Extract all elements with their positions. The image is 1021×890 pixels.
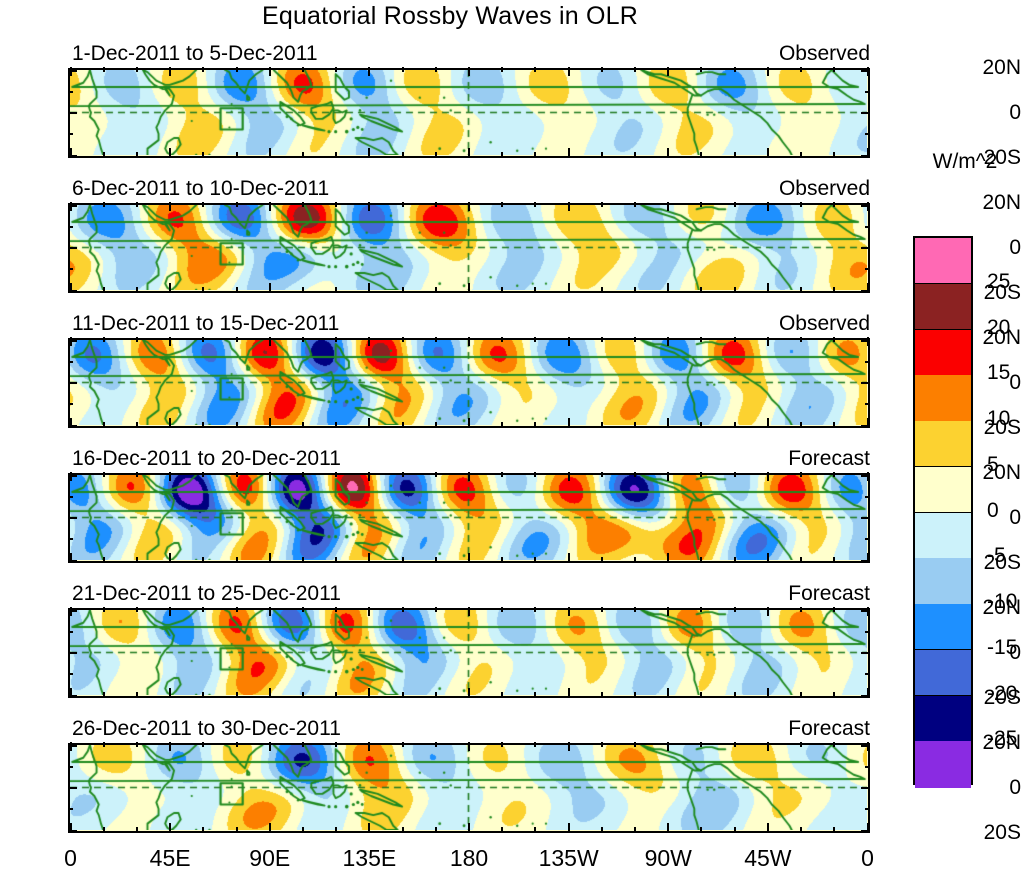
colorbar-tick-label: -25 — [987, 727, 1017, 751]
panel-status-label: Observed — [779, 42, 870, 66]
y-tick-label: 20N — [959, 192, 1021, 213]
x-tick-label: 45W — [723, 845, 813, 872]
x-tick-label: 45E — [125, 845, 215, 872]
panel-period-label: 6-Dec-2011 to 10-Dec-2011 — [72, 177, 329, 201]
x-tick-label: 90E — [225, 845, 315, 872]
contour-map — [68, 203, 870, 293]
x-tick-label: 180 — [424, 845, 514, 872]
panel-status-label: Observed — [779, 312, 870, 336]
x-tick-label: 135W — [524, 845, 614, 872]
colorbar-tick-label: -5 — [987, 544, 1006, 568]
panel-status-label: Observed — [779, 177, 870, 201]
colorbar-tick-label: 0 — [987, 499, 999, 523]
panel-period-label: 11-Dec-2011 to 15-Dec-2011 — [72, 312, 339, 336]
panel-period-label: 1-Dec-2011 to 5-Dec-2011 — [72, 42, 318, 66]
colorbar-tick-label: 25 — [987, 270, 1010, 294]
colorbar-band — [915, 238, 971, 284]
panel-status-label: Forecast — [788, 447, 870, 471]
panel-period-label: 16-Dec-2011 to 20-Dec-2011 — [72, 447, 341, 471]
x-tick-label: 135E — [324, 845, 414, 872]
colorbar-tick-label: -20 — [987, 682, 1017, 706]
colorbar-band — [915, 604, 971, 650]
colorbar-tick-label: 10 — [987, 407, 1010, 431]
colorbar-band — [915, 421, 971, 467]
colorbar-unit-label: W/m^2 — [905, 150, 1021, 174]
y-tick-label: 20N — [959, 57, 1021, 78]
y-tick-label: 0 — [959, 102, 1021, 123]
panel-status-label: Forecast — [788, 582, 870, 606]
colorbar-band — [915, 467, 971, 513]
contour-map — [68, 743, 870, 833]
colorbar-band — [915, 330, 971, 376]
x-tick-label: 90W — [623, 845, 713, 872]
colorbar-tick-label: 20 — [987, 316, 1010, 340]
colorbar-tick-label: 5 — [987, 453, 999, 477]
contour-map — [68, 68, 870, 158]
colorbar-band — [915, 696, 971, 742]
panel-period-label: 26-Dec-2011 to 30-Dec-2011 — [72, 717, 341, 741]
panel-period-label: 21-Dec-2011 to 25-Dec-2011 — [72, 582, 341, 606]
colorbar-band — [915, 741, 971, 787]
colorbar-tick-label: -15 — [987, 636, 1017, 660]
colorbar-tick-label: 15 — [987, 361, 1010, 385]
colorbar-swatches — [913, 236, 973, 785]
contour-map — [68, 473, 870, 563]
panel-status-label: Forecast — [788, 717, 870, 741]
colorbar-band — [915, 513, 971, 559]
colorbar-band — [915, 284, 971, 330]
y-tick-label: 20S — [959, 822, 1021, 843]
contour-map — [68, 608, 870, 698]
contour-map — [68, 338, 870, 428]
colorbar-band — [915, 375, 971, 421]
colorbar-band — [915, 650, 971, 696]
colorbar-tick-label: -10 — [987, 590, 1017, 614]
colorbar-band — [915, 558, 971, 604]
page-title: Equatorial Rossby Waves in OLR — [0, 2, 900, 31]
x-tick-label: 0 — [26, 845, 116, 872]
x-tick-label: 0 — [823, 845, 913, 872]
